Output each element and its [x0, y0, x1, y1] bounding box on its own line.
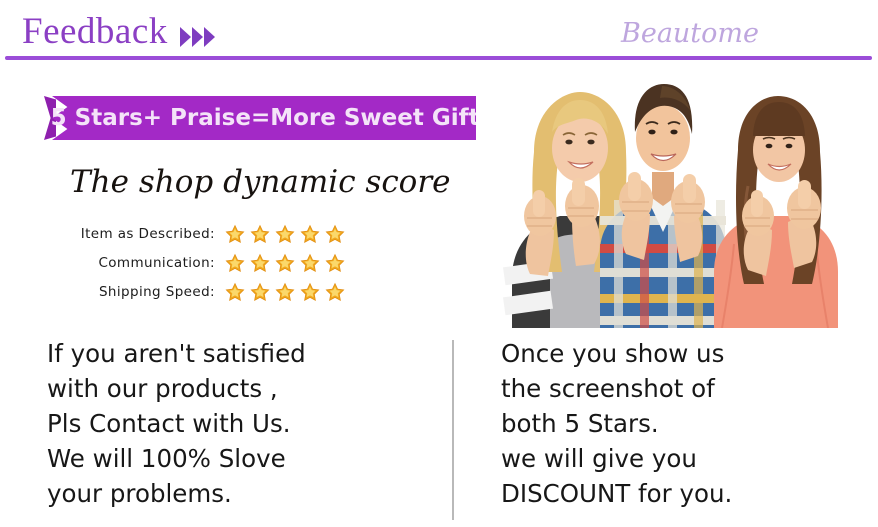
star-rating — [225, 224, 345, 244]
rating-label: Communication: — [60, 255, 225, 271]
feedback-banner-page: Feedback Beautome 5 Stars+ Praise=More S… — [0, 0, 878, 527]
chevron-right-icon — [180, 27, 191, 47]
star-icon — [300, 282, 320, 302]
star-rating — [225, 253, 345, 273]
star-icon — [250, 224, 270, 244]
vertical-divider — [452, 340, 454, 520]
rating-label: Item as Described: — [60, 226, 225, 242]
satisfaction-promise-text: If you aren't satisfied with our product… — [47, 336, 437, 511]
star-icon — [225, 224, 245, 244]
star-icon — [300, 253, 320, 273]
header-divider-rule — [5, 56, 872, 60]
table-row: Shipping Speed: — [60, 277, 390, 306]
rating-label: Shipping Speed: — [60, 284, 225, 300]
star-icon — [325, 253, 345, 273]
brand-logo-text: Beautome — [600, 18, 780, 50]
page-title: Feedback — [22, 12, 168, 52]
star-icon — [325, 282, 345, 302]
star-icon — [275, 282, 295, 302]
shop-dynamic-score-table: Item as Described: Communication: Shippi… — [60, 219, 390, 306]
table-row: Item as Described: — [60, 219, 390, 248]
star-icon — [225, 282, 245, 302]
ribbon-label: 5 Stars+ Praise=More Sweet Gifts — [44, 96, 500, 140]
page-header: Feedback Beautome — [0, 0, 878, 62]
triple-chevron-right-icon — [180, 27, 215, 47]
promo-ribbon-banner: 5 Stars+ Praise=More Sweet Gifts — [44, 96, 500, 140]
star-icon — [275, 253, 295, 273]
score-heading: The shop dynamic score — [70, 163, 451, 201]
star-rating — [225, 282, 345, 302]
discount-promise-text: Once you show us the screenshot of both … — [501, 336, 871, 511]
star-icon — [250, 282, 270, 302]
thumbs-up-people-photo — [476, 66, 846, 328]
star-icon — [225, 253, 245, 273]
star-icon — [275, 224, 295, 244]
star-icon — [325, 224, 345, 244]
table-row: Communication: — [60, 248, 390, 277]
star-icon — [250, 253, 270, 273]
star-icon — [300, 224, 320, 244]
chevron-right-icon — [192, 27, 203, 47]
chevron-right-icon — [204, 27, 215, 47]
